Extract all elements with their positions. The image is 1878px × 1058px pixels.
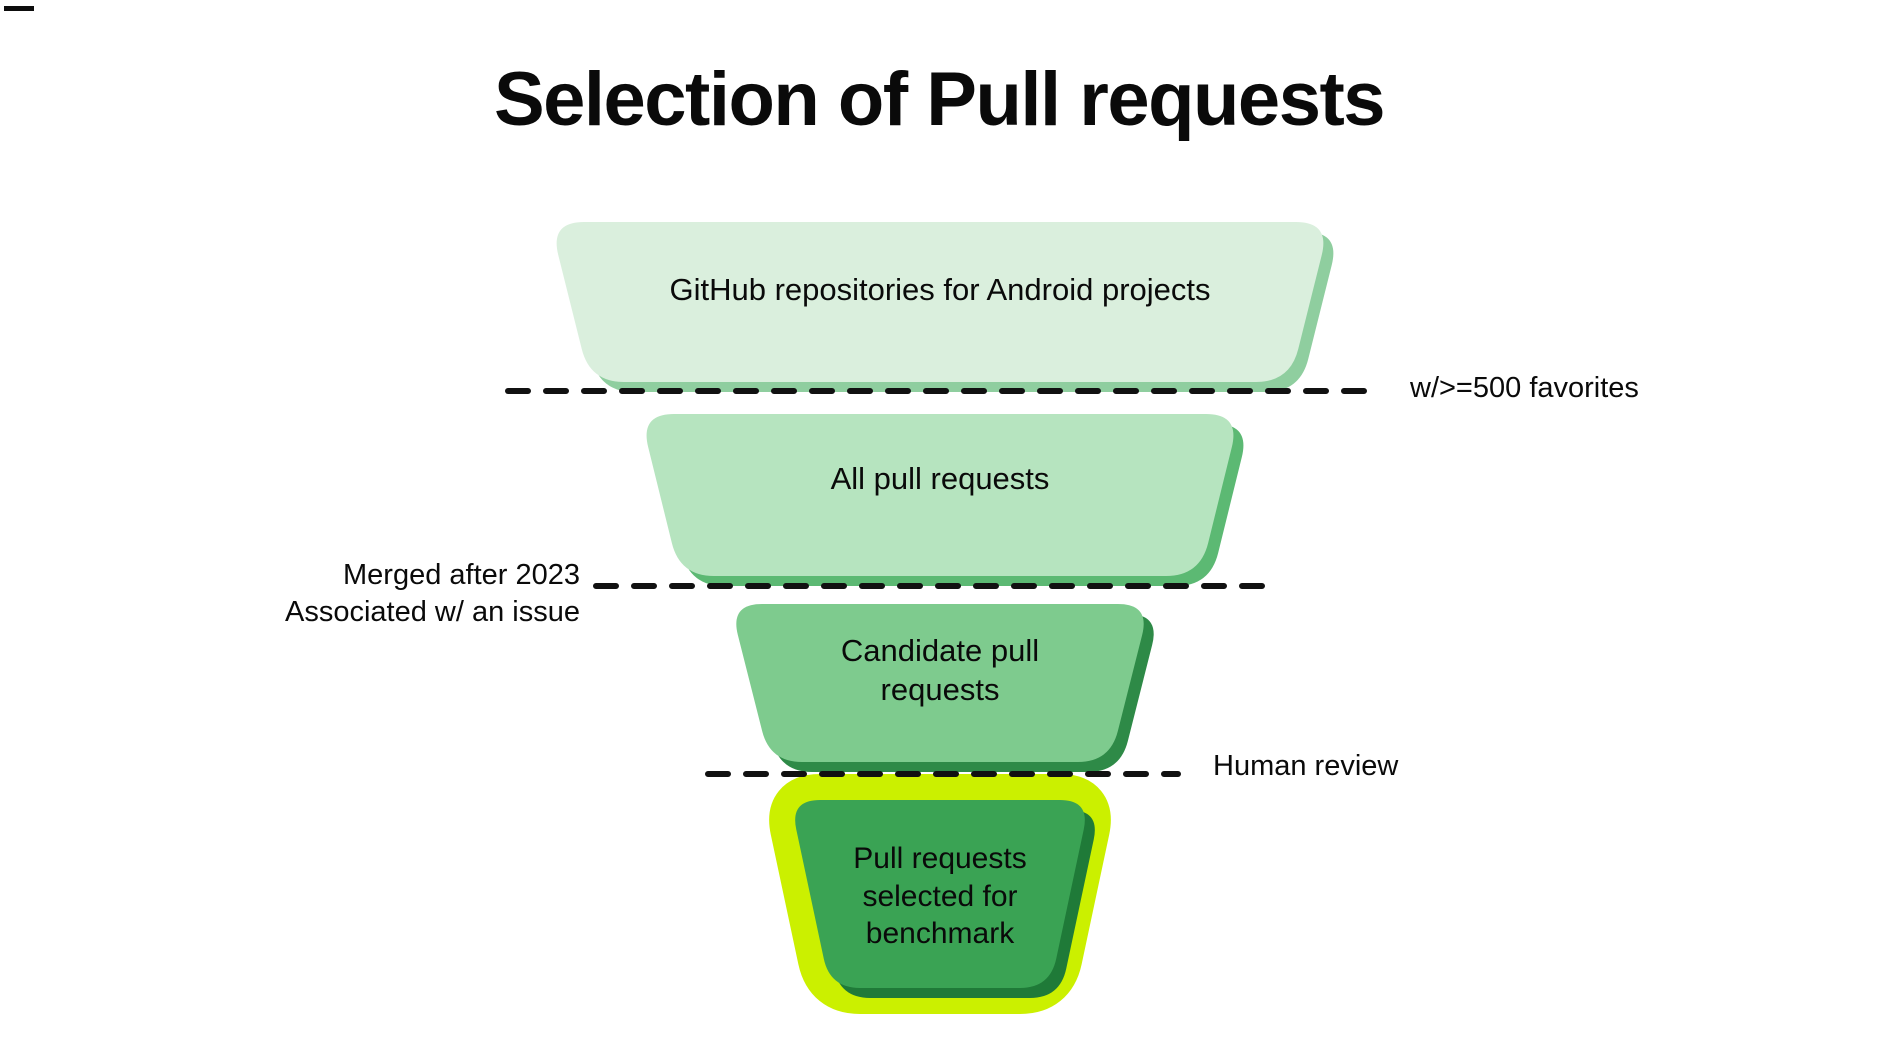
funnel-diagram <box>0 0 1878 1058</box>
funnel-stage-2 <box>736 604 1143 762</box>
funnel-stage-3 <box>795 800 1085 988</box>
slide-canvas: Selection of Pull requests GitHub reposi… <box>0 0 1878 1058</box>
funnel-stage-0 <box>557 222 1324 382</box>
funnel-stage-1 <box>647 414 1234 576</box>
